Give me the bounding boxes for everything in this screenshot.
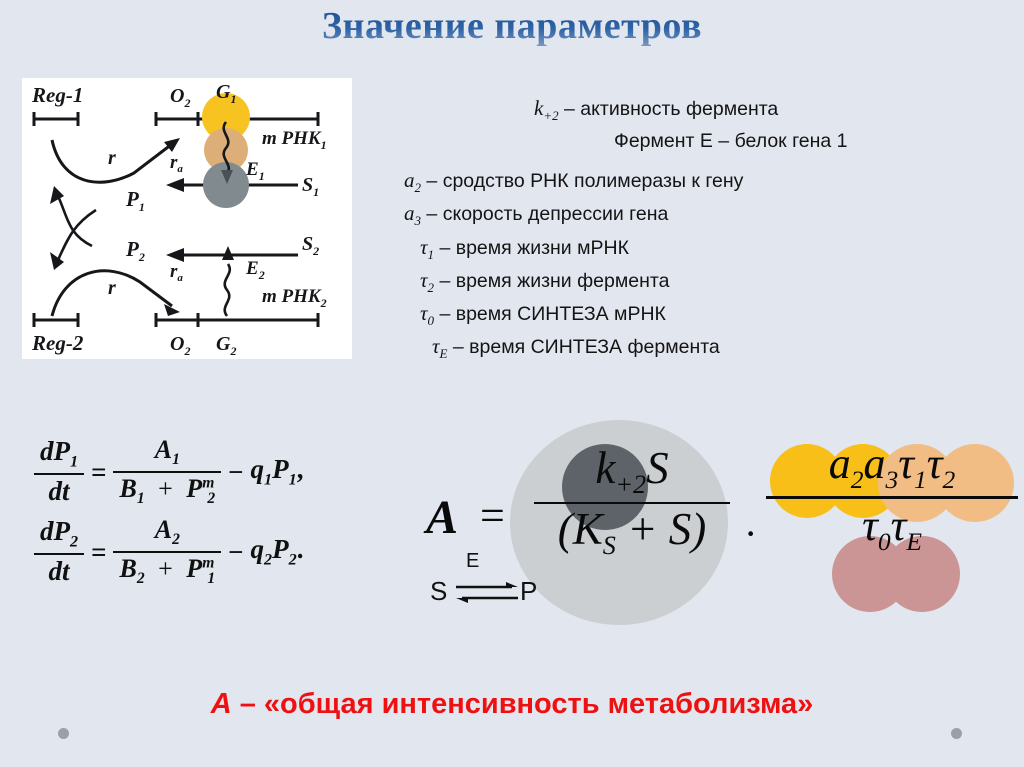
equilibrium-arrows-icon <box>454 578 524 608</box>
metabolism-intensity-formula: A = k+2S (KS + S) · a2a3τ1τ2 τ0τE E S P <box>422 418 1024 643</box>
bottom-caption: A – «общая интенсивность метаболизма» <box>0 688 1024 721</box>
legend-item-tau0: τ0 – время СИНТЕЗА мРНК <box>402 301 1018 333</box>
label-r-bottom: r <box>108 277 116 299</box>
legend-text: – скорость депрессии гена <box>421 203 668 225</box>
legend-item-a2: a2 – сродство РНК полимеразы к гену <box>402 168 1018 200</box>
legend-symbol: τ0 <box>420 301 434 325</box>
label-r-top: r <box>108 147 116 169</box>
reaction-substrate-label: S <box>430 576 447 607</box>
ode2-tail: q2P2. <box>251 534 304 569</box>
slide-root: Значение параметров <box>0 0 1024 767</box>
enzyme-circle-gray <box>203 162 249 208</box>
legend-symbol: a3 <box>404 201 421 225</box>
legend-symbol: τ1 <box>420 235 434 259</box>
ode2-lhs-num: dP2 <box>34 517 84 551</box>
fraction-bar <box>34 553 84 555</box>
legend-text: – сродство РНК полимеразы к гену <box>421 170 743 192</box>
legend-text: Фермент E – белок гена 1 <box>614 130 848 152</box>
label-mrna2: m PHK2 <box>262 286 327 310</box>
parameters-fraction: a2a3τ1τ2 τ0τE <box>766 442 1018 556</box>
corner-dot-right <box>951 728 962 739</box>
legend-item-k2: k+2 – активность фермента <box>402 96 1018 128</box>
label-reg1: Reg-1 <box>31 83 83 107</box>
legend-text: – время СИНТЕЗА мРНК <box>434 303 666 325</box>
label-reg2: Reg-2 <box>31 331 84 355</box>
formula-equals: = <box>480 490 505 541</box>
ode2-rhs-den: B2 + Pm1 <box>113 555 221 588</box>
reaction-enzyme-label: E <box>466 550 479 573</box>
mm-numerator: k+2S <box>534 446 730 498</box>
params-denominator: τ0τE <box>766 503 1018 556</box>
ode-equation-2: dP2 dt = A2 B2 + Pm1 − q2P2. <box>34 512 303 592</box>
legend-item-enzyme: Фермент E – белок гена 1 <box>402 129 1018 154</box>
formula-text-layer: A = k+2S (KS + S) · a2a3τ1τ2 τ0τE <box>422 418 1024 643</box>
ode-equation-1: dP1 dt = A1 B1 + Pm2 − q1P1, <box>34 432 303 512</box>
ode1-lhs: dP1 dt <box>34 437 84 506</box>
corner-dot-left <box>58 728 69 739</box>
ode2-lhs: dP2 dt <box>34 517 84 586</box>
caption-text: – «общая интенсивность метаболизма» <box>232 688 814 720</box>
ode2-rhs-num: A2 <box>149 516 186 549</box>
ode-system: dP1 dt = A1 B1 + Pm2 − q1P1, dP2 dt = A2 <box>34 432 303 592</box>
formula-lhs-A: A <box>426 490 458 545</box>
ode1-tail: q1P1, <box>251 454 304 489</box>
ode2-equals: = <box>84 537 113 568</box>
legend-symbol: a2 <box>404 168 421 192</box>
mm-denominator: (KS + S) <box>534 506 730 559</box>
ode2-rhs-fraction: A2 B2 + Pm1 <box>113 516 221 588</box>
ode1-lhs-den: dt <box>43 477 76 506</box>
diagram-svg: Reg-1 Reg-2 O2 O2 G1 G2 m PHK1 m PHK2 E1… <box>22 78 352 359</box>
legend-symbol: τE <box>432 334 447 358</box>
fraction-bar <box>766 496 1018 499</box>
fraction-bar <box>113 471 221 473</box>
legend-item-a3: a3 – скорость депрессии гена <box>402 201 1018 233</box>
ode1-rhs-fraction: A1 B1 + Pm2 <box>113 436 221 508</box>
legend-item-tau1: τ1 – время жизни мРНК <box>402 235 1018 267</box>
michaelis-menten-fraction: k+2S (KS + S) <box>534 446 730 559</box>
legend-text: – активность фермента <box>559 98 779 120</box>
legend-symbol: k+2 <box>534 96 559 120</box>
ode1-rhs-num: A1 <box>149 436 186 469</box>
legend-item-tauE: τE – время СИНТЕЗА фермента <box>402 334 1018 366</box>
legend-symbol: τ2 <box>420 268 434 292</box>
legend-text: – время СИНТЕЗА фермента <box>447 336 719 358</box>
ode1-lhs-num: dP1 <box>34 437 84 471</box>
fraction-bar <box>34 473 84 475</box>
ode1-equals: = <box>84 457 113 488</box>
params-numerator: a2a3τ1τ2 <box>766 442 1018 492</box>
ode1-minus: − <box>221 457 250 488</box>
multiplication-dot: · <box>744 522 757 546</box>
legend-text: – время жизни мРНК <box>434 237 629 259</box>
ode2-minus: − <box>221 537 250 568</box>
ode1-rhs-den: B1 + Pm2 <box>113 475 221 508</box>
gene-regulation-diagram: Reg-1 Reg-2 O2 O2 G1 G2 m PHK1 m PHK2 E1… <box>22 78 352 359</box>
caption-symbol: A <box>211 688 232 720</box>
parameters-legend: k+2 – активность фермента Фермент E – бе… <box>402 96 1018 367</box>
legend-text: – время жизни фермента <box>434 270 669 292</box>
label-mrna1: m PHK1 <box>262 128 327 152</box>
ode2-lhs-den: dt <box>43 557 76 586</box>
page-title: Значение параметров <box>0 4 1024 48</box>
legend-item-tau2: τ2 – время жизни фермента <box>402 268 1018 300</box>
fraction-bar <box>113 551 221 553</box>
